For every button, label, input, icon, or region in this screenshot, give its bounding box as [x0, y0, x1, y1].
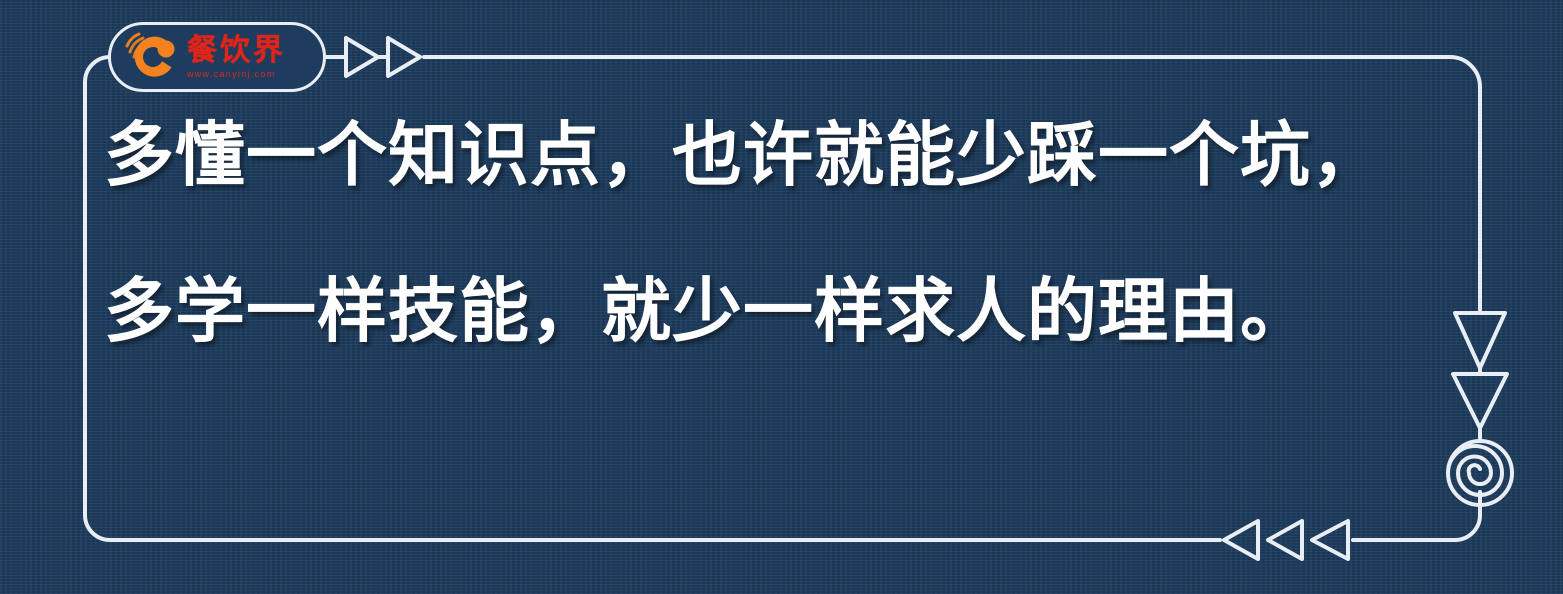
headline-block: 多懂一个知识点，也许就能少踩一个坑， 多学一样技能，就少一样求人的理由。: [104, 118, 1434, 349]
triangle-down-icon-2: [1453, 374, 1507, 428]
brand-text-block: 餐饮界 www.canyinj.com: [187, 36, 286, 79]
triangle-left-icon-1: [1224, 521, 1258, 559]
triangle-left-icon-2: [1268, 521, 1302, 559]
poster-canvas: 餐饮界 www.canyinj.com 多懂一个知识点，也许就能少踩一个坑， 多…: [0, 0, 1563, 594]
triangle-right-icon-1: [346, 38, 378, 76]
headline-line-1: 多懂一个知识点，也许就能少踩一个坑，: [104, 118, 1434, 194]
triangle-right-icon-2: [388, 38, 420, 76]
spiral-icon: [1448, 441, 1512, 505]
brand-url: www.canyinj.com: [187, 70, 276, 79]
orange-c-swirl-icon: [125, 30, 181, 84]
triangle-down-icon-1: [1455, 313, 1505, 368]
triangle-left-icon-3: [1312, 521, 1348, 559]
headline-line-2: 多学一样技能，就少一样求人的理由。: [104, 274, 1434, 350]
brand-logo-badge[interactable]: 餐饮界 www.canyinj.com: [108, 22, 326, 92]
brand-name-cn: 餐饮界: [187, 36, 286, 66]
frame-top-edge: [424, 57, 1480, 87]
